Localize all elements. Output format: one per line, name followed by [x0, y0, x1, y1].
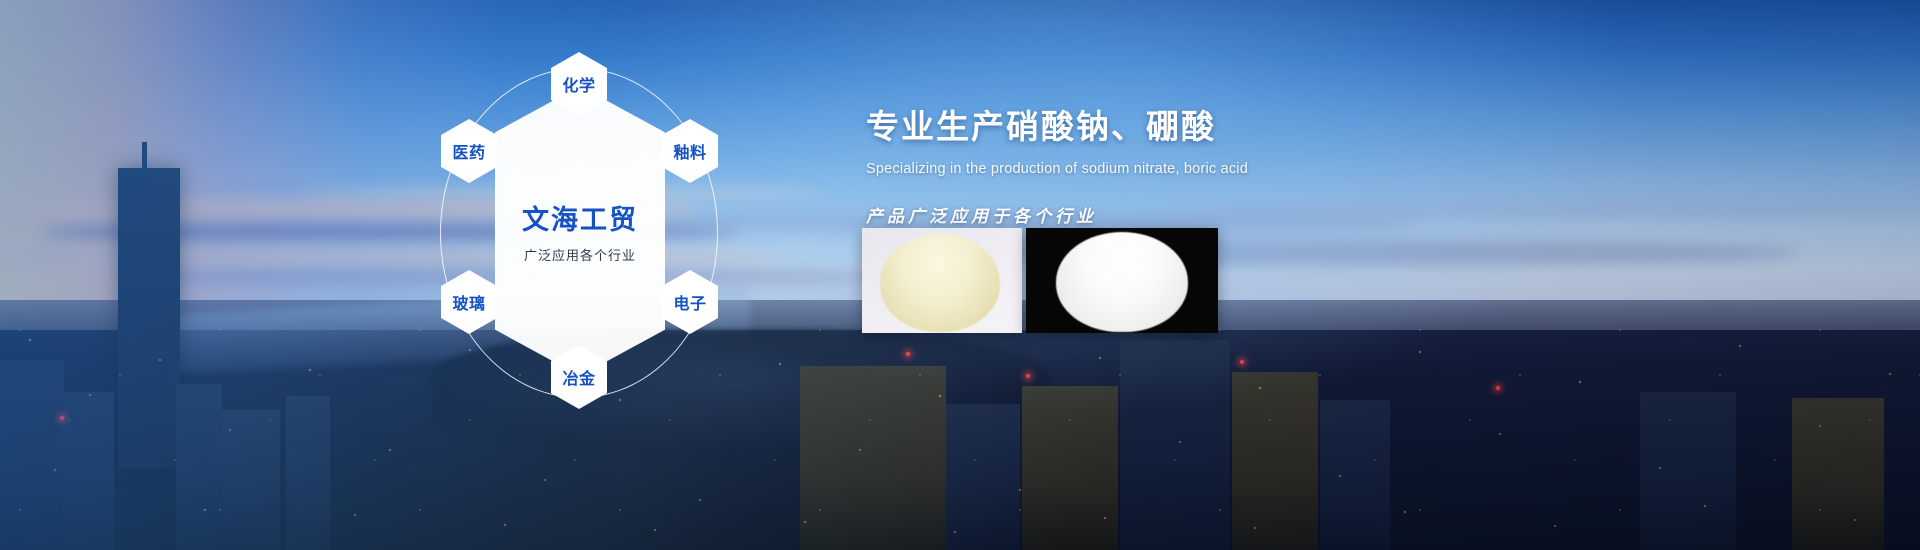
- antenna-light: [1026, 374, 1030, 378]
- company-name: 文海工贸: [522, 198, 638, 237]
- hexagon-label: 玻璃: [452, 290, 485, 314]
- antenna-light: [906, 352, 910, 356]
- antenna-light: [1240, 360, 1244, 364]
- promo-tagline: 产品广泛应用于各个行业: [866, 202, 1566, 227]
- company-hexagon[interactable]: 文海工贸 广泛应用各个行业: [495, 86, 665, 376]
- city-lights-secondary: [0, 300, 1920, 550]
- hexagon-label: 医药: [452, 139, 485, 163]
- hexagon-label: 化学: [562, 72, 595, 96]
- antenna-light: [60, 416, 64, 420]
- product-photo-sodium-nitrate[interactable]: [862, 228, 1022, 333]
- hexagon-label: 冶金: [562, 365, 595, 389]
- promotional-banner: 文海工贸 广泛应用各个行业 化学 釉料 电子 冶金 玻璃 医药 专业生产硝酸钠、…: [0, 0, 1920, 550]
- powder-grain-texture: [880, 234, 1000, 332]
- powder-grain-texture: [1056, 232, 1188, 332]
- antenna-light: [1496, 386, 1500, 390]
- promo-subline-english: Specializing in the production of sodium…: [866, 161, 1566, 177]
- promo-headline: 专业生产硝酸钠、硼酸: [866, 100, 1566, 148]
- hexagon-label: 电子: [673, 290, 706, 314]
- product-photo-boric-acid[interactable]: [1026, 228, 1218, 333]
- promo-text-block: 专业生产硝酸钠、硼酸 Specializing in the productio…: [866, 100, 1566, 227]
- industry-hexagon-diagram: 文海工贸 广泛应用各个行业 化学 釉料 电子 冶金 玻璃 医药: [430, 30, 730, 430]
- hexagon-label: 釉料: [673, 139, 706, 163]
- company-tagline: 广泛应用各个行业: [524, 245, 636, 264]
